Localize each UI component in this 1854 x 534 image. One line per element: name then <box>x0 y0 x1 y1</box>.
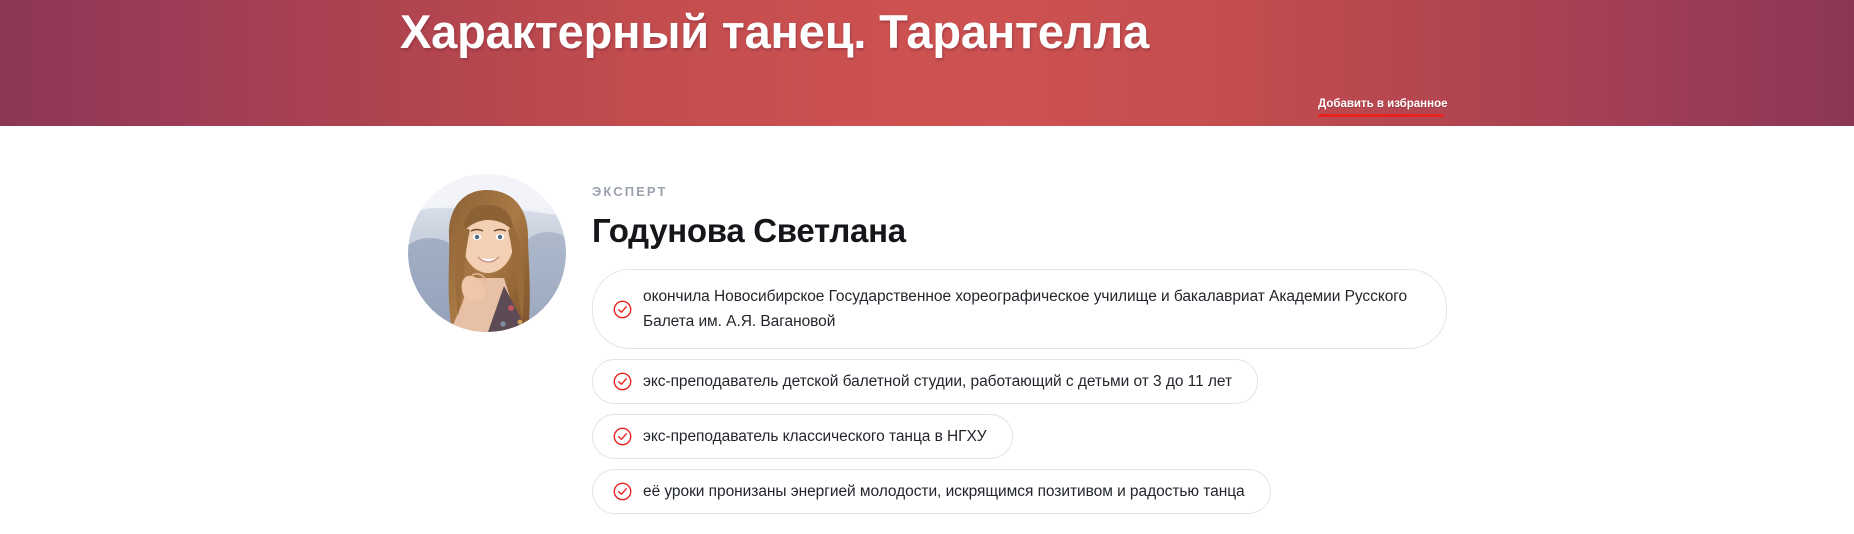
expert-info: ЭКСПЕРТ Годунова Светлана окончила Новос… <box>592 184 1492 524</box>
add-to-favorites[interactable]: Добавить в избранное <box>1318 97 1444 117</box>
credential-text: экс-преподаватель классического танца в … <box>643 424 987 449</box>
check-circle-icon <box>613 482 632 501</box>
check-circle-icon <box>613 427 632 446</box>
credential-chip: её уроки пронизаны энергией молодости, и… <box>592 469 1271 514</box>
main-content: ЭКСПЕРТ Годунова Светлана окончила Новос… <box>0 126 1854 534</box>
add-to-favorites-link[interactable]: Добавить в избранное <box>1318 97 1444 111</box>
expert-avatar <box>408 174 566 332</box>
credential-row: экс-преподаватель детской балетной студи… <box>592 359 1492 414</box>
add-to-favorites-underline <box>1318 114 1444 117</box>
credential-chip: экс-преподаватель классического танца в … <box>592 414 1013 459</box>
check-circle-icon <box>613 372 632 391</box>
credential-row: экс-преподаватель классического танца в … <box>592 414 1492 469</box>
expert-kicker: ЭКСПЕРТ <box>592 184 1492 200</box>
credential-chip: окончила Новосибирское Государственное х… <box>592 269 1447 349</box>
check-circle-icon <box>613 300 632 319</box>
credential-text: её уроки пронизаны энергией молодости, и… <box>643 479 1245 504</box>
credential-row: окончила Новосибирское Государственное х… <box>592 269 1492 359</box>
expert-credentials-list: окончила Новосибирское Государственное х… <box>592 269 1492 524</box>
page-title: Характерный танец. Тарантелла <box>400 2 1149 62</box>
page-header-banner: Характерный танец. Тарантелла Добавить в… <box>0 0 1854 126</box>
credential-row: её уроки пронизаны энергией молодости, и… <box>592 469 1492 524</box>
avatar-photo <box>408 174 566 332</box>
credential-text: экс-преподаватель детской балетной студи… <box>643 369 1232 394</box>
credential-text: окончила Новосибирское Государственное х… <box>643 284 1421 334</box>
expert-name: Годунова Светлана <box>592 211 1492 251</box>
credential-chip: экс-преподаватель детской балетной студи… <box>592 359 1258 404</box>
